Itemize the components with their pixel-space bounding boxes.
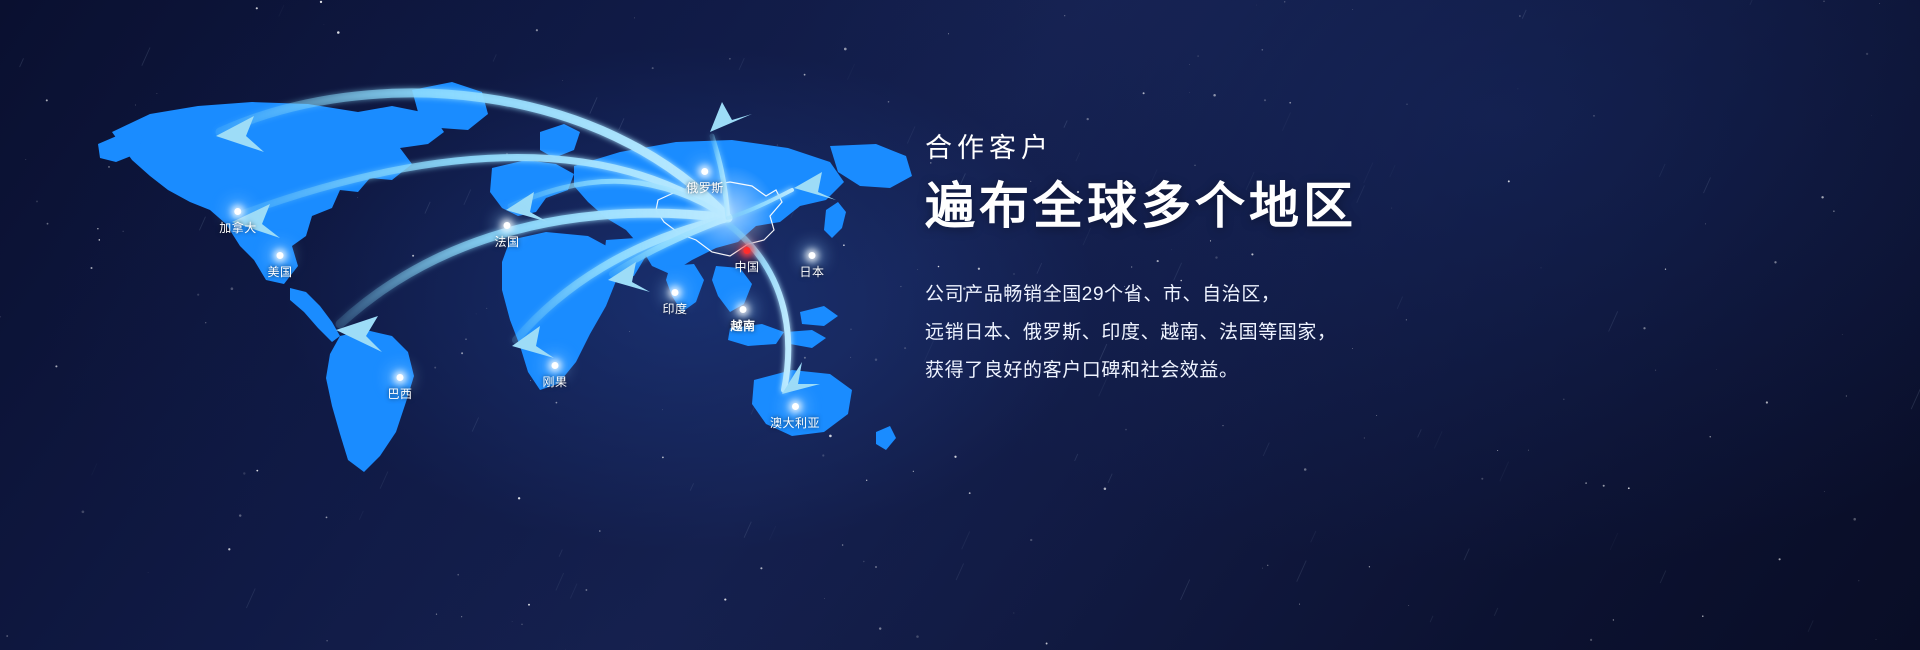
world-map-banner: 加拿大美国巴西法国刚果俄罗斯印度中国日本越南澳大利亚 合作客户 遍布全球多个地区…	[0, 0, 1920, 650]
eyebrow-text: 合作客户	[925, 132, 1545, 164]
description-line: 获得了良好的客户口碑和社会效益。	[925, 352, 1545, 390]
description-paragraph: 公司产品畅销全国29个省、市、自治区，远销日本、俄罗斯、印度、越南、法国等国家，…	[925, 276, 1545, 390]
continent-shapes	[98, 82, 912, 472]
description-line: 公司产品畅销全国29个省、市、自治区，	[925, 276, 1545, 314]
banner-copy: 合作客户 遍布全球多个地区 公司产品畅销全国29个省、市、自治区，远销日本、俄罗…	[925, 132, 1545, 390]
world-map: 加拿大美国巴西法国刚果俄罗斯印度中国日本越南澳大利亚	[40, 40, 960, 540]
description-line: 远销日本、俄罗斯、印度、越南、法国等国家，	[925, 314, 1545, 352]
headline-text: 遍布全球多个地区	[925, 176, 1545, 236]
